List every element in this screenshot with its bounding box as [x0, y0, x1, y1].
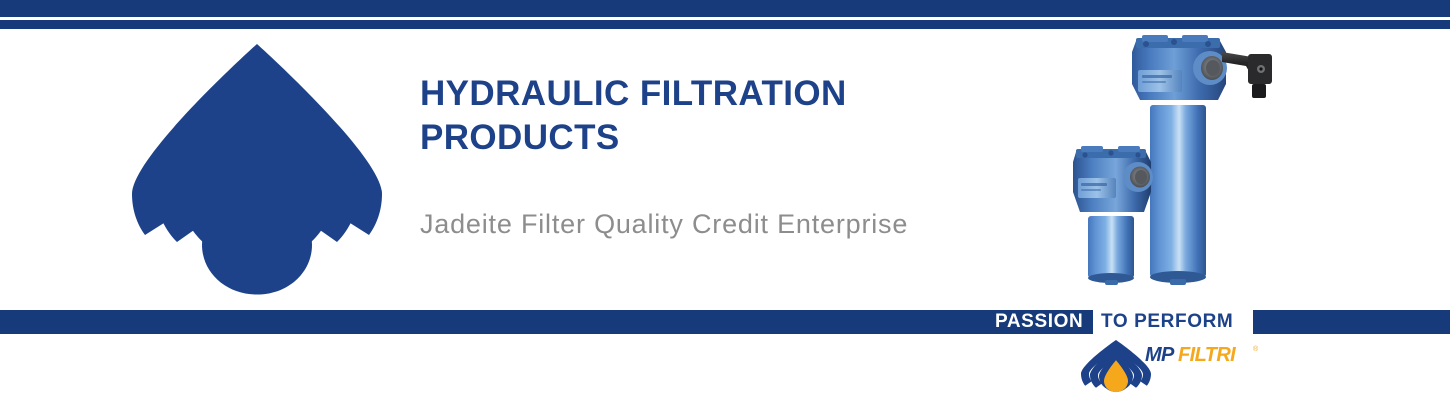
- company-logo: [126, 44, 388, 302]
- mpfiltri-logo: MP FILTRI ®: [1079, 339, 1265, 397]
- mpfiltri-wordmark: MP FILTRI ®: [1145, 342, 1269, 368]
- water-drop-waves-logo-icon: [126, 44, 388, 302]
- top-rule-primary: [0, 0, 1450, 17]
- page-title: HYDRAULIC FILTRATION PRODUCTS: [420, 72, 1040, 160]
- electrical-connector: [1222, 52, 1272, 98]
- svg-text:MP: MP: [1145, 344, 1175, 366]
- mpfiltri-drop-waves-mark-icon: [1079, 339, 1153, 395]
- hydraulic-filter-large: [1132, 35, 1272, 285]
- product-photo-group: [1062, 26, 1297, 311]
- banner-root: HYDRAULIC FILTRATION PRODUCTS Jadeite Fi…: [0, 0, 1450, 400]
- svg-text:FILTRI: FILTRI: [1178, 344, 1236, 366]
- svg-text:®: ®: [1253, 345, 1259, 353]
- hydraulic-filter-small: [1073, 146, 1153, 285]
- headline-block: HYDRAULIC FILTRATION PRODUCTS: [420, 72, 1040, 160]
- tagline-passion: PASSION: [995, 311, 1083, 333]
- tagline-to-perform: TO PERFORM: [1101, 311, 1233, 333]
- page-subtitle: Jadeite Filter Quality Credit Enterprise: [420, 209, 908, 240]
